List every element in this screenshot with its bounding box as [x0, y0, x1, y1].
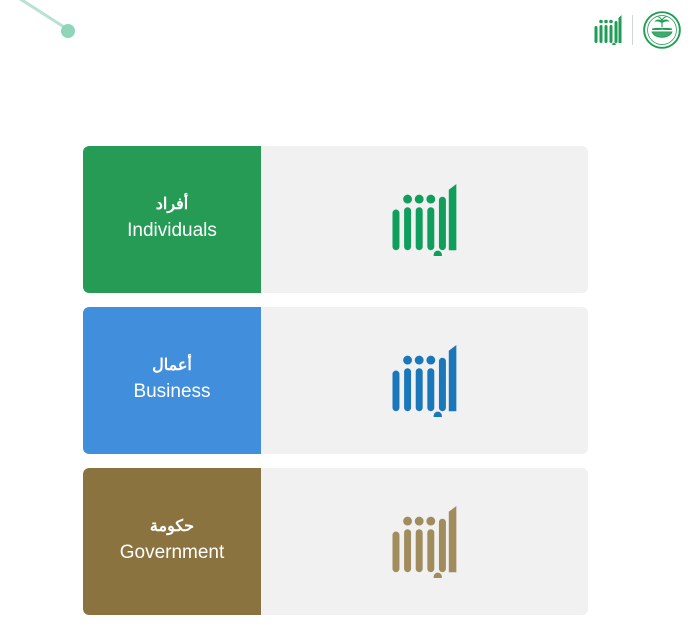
- card-individuals-logo-panel[interactable]: [261, 146, 588, 293]
- card-government-logo-panel[interactable]: [261, 468, 588, 615]
- card-individuals-label[interactable]: أفراد Individuals: [83, 146, 261, 293]
- pin-line-decoration: [0, 0, 110, 60]
- saudi-ministry-of-interior-emblem-icon: [643, 11, 681, 49]
- absher-logo-icon: [594, 15, 622, 45]
- card-business[interactable]: أعمال Business: [83, 307, 588, 454]
- card-individuals-label-en: Individuals: [127, 219, 217, 244]
- card-government[interactable]: حكومة Government: [83, 468, 588, 615]
- audience-cards-list: أفراد Individuals أ: [83, 146, 588, 615]
- card-individuals[interactable]: أفراد Individuals: [83, 146, 588, 293]
- card-government-label-ar: حكومة: [150, 517, 194, 538]
- card-business-logo-panel[interactable]: [261, 307, 588, 454]
- card-individuals-label-ar: أفراد: [156, 195, 189, 216]
- header-divider: [632, 15, 633, 45]
- card-business-label[interactable]: أعمال Business: [83, 307, 261, 454]
- card-government-label-en: Government: [120, 541, 225, 566]
- header-logos: [594, 9, 681, 51]
- card-business-label-ar: أعمال: [152, 356, 192, 377]
- card-business-label-en: Business: [133, 380, 210, 405]
- absher-logo-icon: [392, 506, 458, 578]
- absher-logo-icon: [392, 345, 458, 417]
- card-government-label[interactable]: حكومة Government: [83, 468, 261, 615]
- absher-logo-icon: [392, 184, 458, 256]
